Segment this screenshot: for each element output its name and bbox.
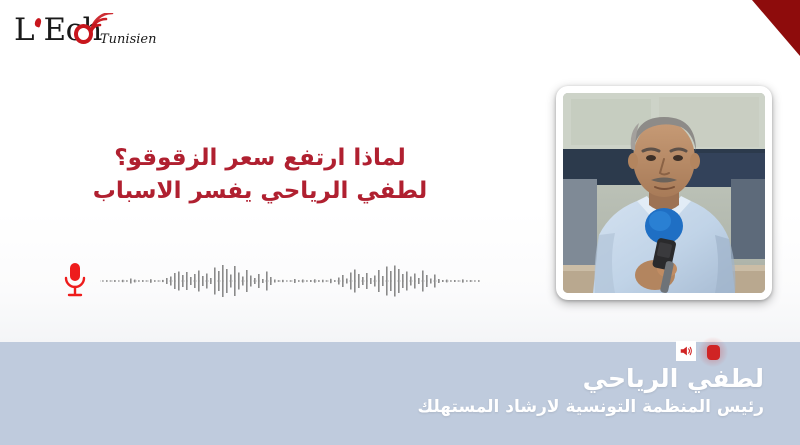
guest-photo-card bbox=[556, 86, 772, 300]
corner-accent-triangle bbox=[752, 0, 800, 56]
audio-player[interactable] bbox=[58, 258, 478, 304]
record-indicator bbox=[707, 345, 720, 360]
logo-tagline: Tunisien bbox=[100, 32, 156, 47]
headline-line-1: لماذا ارتفع سعر الزقوقو؟ bbox=[60, 142, 460, 175]
video-frame: L Ech Tunisien لماذا ارتفع سعر الزقوقو؟ … bbox=[0, 0, 800, 445]
microphone-icon[interactable] bbox=[62, 261, 88, 301]
speaker-role: رئيس المنظمة التونسية لارشاد المستهلك bbox=[418, 396, 764, 418]
brand-logo[interactable]: L Ech Tunisien bbox=[14, 10, 164, 56]
guest-photo bbox=[563, 93, 765, 293]
speaker-name: لطفي الرياحي bbox=[583, 364, 764, 394]
volume-icon[interactable] bbox=[676, 341, 696, 361]
page-title: لماذا ارتفع سعر الزقوقو؟ لطفي الرياحي يف… bbox=[60, 142, 460, 208]
record-stop-icon[interactable] bbox=[702, 341, 724, 363]
audio-waveform[interactable] bbox=[100, 258, 480, 304]
headline-line-2: لطفي الرياحي يفسر الاسباب bbox=[60, 175, 460, 208]
